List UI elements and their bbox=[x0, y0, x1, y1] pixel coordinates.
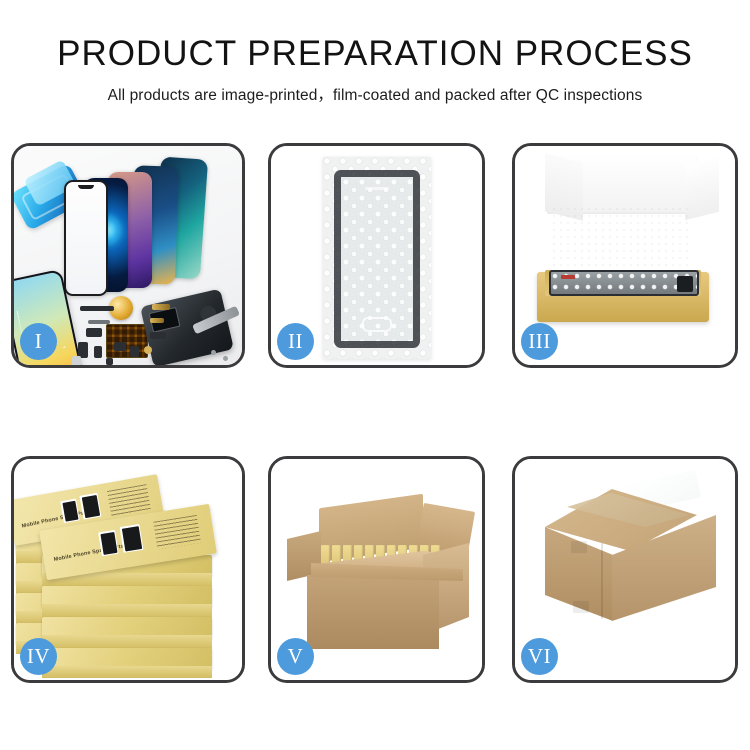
screw-icon bbox=[211, 350, 216, 355]
page-title: PRODUCT PREPARATION PROCESS bbox=[0, 0, 750, 73]
box-art-thumb bbox=[79, 493, 101, 520]
step-panel-3[interactable]: III bbox=[512, 143, 738, 368]
step-badge-6: VI bbox=[521, 638, 558, 675]
carton-notch bbox=[571, 541, 587, 553]
retail-box-side bbox=[42, 666, 212, 678]
small-part bbox=[150, 332, 166, 339]
wrapped-phone-screen bbox=[334, 170, 420, 348]
small-part bbox=[130, 346, 139, 357]
retail-box-side bbox=[42, 604, 212, 618]
step-badge-2: II bbox=[277, 323, 314, 360]
small-part bbox=[80, 306, 114, 311]
box-art-thumb bbox=[60, 499, 80, 523]
foam-insert bbox=[551, 206, 693, 278]
phone-screen-1 bbox=[64, 180, 108, 296]
step-panel-6[interactable]: VI bbox=[512, 456, 738, 683]
small-part bbox=[144, 346, 152, 354]
earpiece-icon bbox=[365, 187, 389, 190]
small-part bbox=[94, 346, 102, 358]
step-panel-2[interactable]: II bbox=[268, 143, 485, 368]
retail-box-side bbox=[42, 635, 212, 649]
infographic-root: PRODUCT PREPARATION PROCESS All products… bbox=[0, 0, 750, 750]
step-badge-4: IV bbox=[20, 638, 57, 675]
small-part bbox=[86, 328, 102, 337]
step-panel-4[interactable]: Mobile Phone Spare Parts Mobile Phone Sp… bbox=[11, 456, 245, 683]
packed-screen bbox=[549, 270, 699, 296]
step-panel-1[interactable]: I bbox=[11, 143, 245, 368]
chip-grid-part-icon bbox=[106, 324, 148, 358]
screw-icon bbox=[223, 356, 228, 361]
step-badge-3: III bbox=[521, 323, 558, 360]
carton-notch bbox=[573, 601, 589, 613]
carton-front bbox=[307, 575, 439, 649]
small-part bbox=[88, 320, 110, 324]
box-spec-lines bbox=[107, 484, 151, 517]
step-badge-5: V bbox=[277, 638, 314, 675]
box-art-thumb bbox=[120, 524, 144, 553]
small-part bbox=[150, 318, 164, 323]
small-part bbox=[106, 358, 113, 365]
box-art-thumb bbox=[98, 530, 119, 556]
page-subtitle: All products are image-printed，film-coat… bbox=[0, 73, 750, 105]
step-badge-1: I bbox=[20, 323, 57, 360]
logic-board-icon bbox=[140, 289, 234, 365]
small-part bbox=[152, 304, 170, 310]
header: PRODUCT PREPARATION PROCESS All products… bbox=[0, 0, 750, 105]
box-spec-lines bbox=[153, 515, 201, 550]
step-panel-5[interactable]: V bbox=[268, 456, 485, 683]
small-part bbox=[114, 342, 126, 351]
small-part bbox=[72, 356, 81, 365]
home-button-icon bbox=[362, 317, 392, 332]
carton-edge-seam bbox=[601, 543, 603, 619]
